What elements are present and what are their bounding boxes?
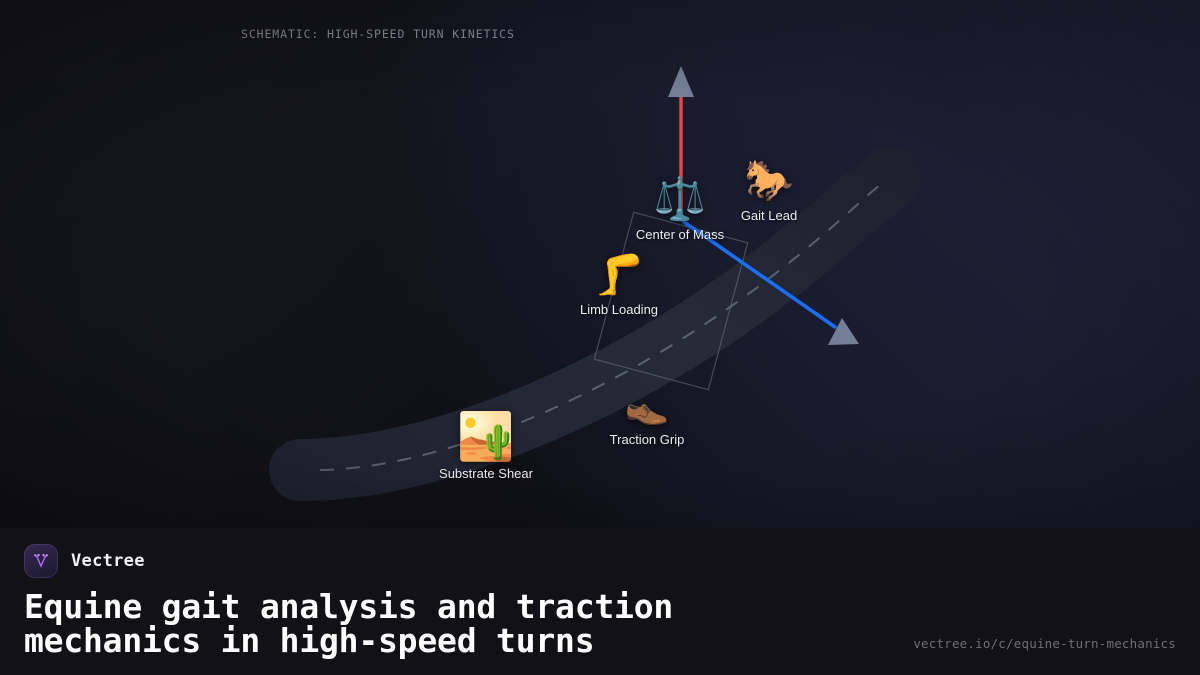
node-label-substrate-shear: Substrate Shear [439,466,533,481]
vectree-branch-glyph [31,551,51,571]
node-gait-lead[interactable]: 🐎 Gait Lead [741,161,797,223]
node-label-traction-grip: Traction Grip [610,432,685,447]
brand-row[interactable]: Vectree [24,544,145,578]
schematic-card: SCHEMATIC: HIGH-SPEED TURN KINETICS ⚖️ C… [0,0,1200,675]
page-title: Equine gait analysis and traction mechan… [24,590,814,659]
turn-track-band [300,178,890,470]
footer-url: vectree.io/c/equine-turn-mechanics [913,636,1176,651]
vertical-vector-arrowhead [668,66,694,97]
node-label-center-of-mass: Center of Mass [636,227,724,242]
node-limb-loading[interactable]: 🦵 Limb Loading [580,255,658,317]
dress-shoe-icon: 👞 [625,389,670,425]
leg-icon: 🦵 [594,255,644,295]
lateral-vector-arrowhead [828,318,859,345]
node-substrate-shear[interactable]: 🏜️ Substrate Shear [439,413,533,481]
desert-icon: 🏜️ [457,413,514,459]
node-center-of-mass[interactable]: ⚖️ Center of Mass [636,178,724,242]
balance-scale-icon: ⚖️ [654,178,706,220]
vectree-branch-logo [24,544,58,578]
brand-name: Vectree [71,551,145,571]
node-traction-grip[interactable]: 👞 Traction Grip [610,389,685,447]
node-label-limb-loading: Limb Loading [580,302,658,317]
footer-bar: Vectree Equine gait analysis and tractio… [0,528,1200,675]
node-label-gait-lead: Gait Lead [741,208,797,223]
racing-horse-icon: 🐎 [744,161,794,201]
